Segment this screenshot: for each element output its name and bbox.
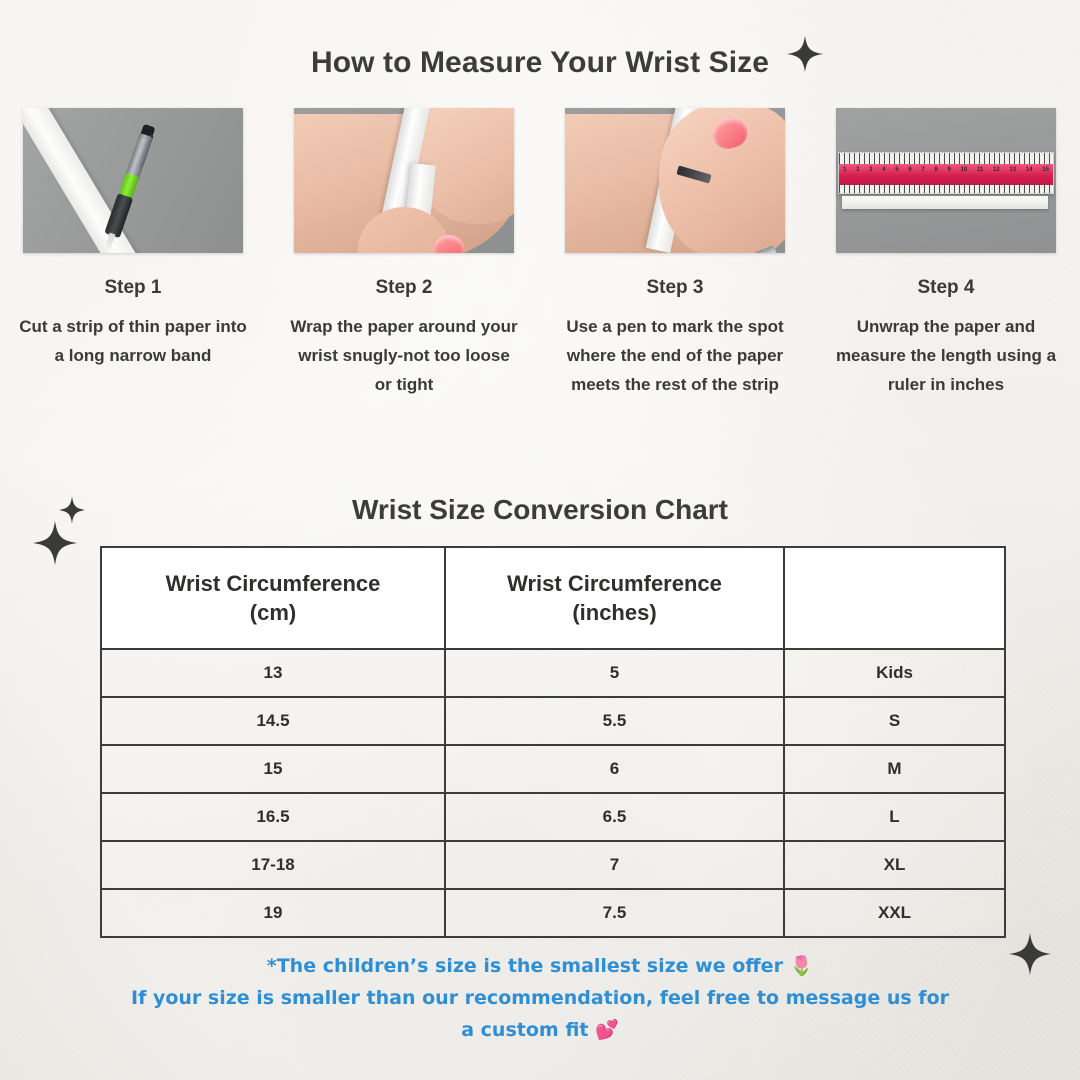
table-row: 17-187XL	[101, 841, 1005, 889]
sparkle-star-icon	[786, 35, 824, 73]
table-row: 16.56.5L	[101, 793, 1005, 841]
footer-note-line-1: *The children’s size is the smallest siz…	[60, 951, 1020, 983]
ruler-ticks-bottom	[839, 183, 1053, 193]
footer-note: *The children’s size is the smallest siz…	[60, 951, 1020, 1047]
ruler-tick-number: 5	[895, 167, 898, 173]
step-description: Wrap the paper around your wrist snugly-…	[278, 313, 530, 400]
sparkle-star-icon	[1008, 932, 1052, 976]
ruler-tick-number: 3	[869, 167, 872, 173]
step-description: Unwrap the paper and measure the length …	[820, 313, 1072, 400]
step-4-photo: 123456789101112131415	[836, 108, 1056, 253]
cell-size: XL	[784, 841, 1005, 889]
conversion-chart-title: Wrist Size Conversion Chart	[0, 494, 1080, 526]
ruler-tick-number: 9	[948, 167, 951, 173]
cell-inches: 6	[445, 745, 784, 793]
step-card-2: Step 2 Wrap the paper around your wrist …	[278, 108, 530, 400]
step-label: Step 3	[549, 277, 801, 299]
cell-cm: 15	[101, 745, 445, 793]
cell-size: L	[784, 793, 1005, 841]
table-row: 197.5XXL	[101, 889, 1005, 937]
step-1-photo	[23, 108, 243, 253]
step-description: Cut a strip of thin paper into a long na…	[7, 313, 259, 371]
column-header-line-1: Wrist Circumference	[507, 571, 722, 596]
ruler-shape: 123456789101112131415	[838, 152, 1054, 194]
table-row: 156M	[101, 745, 1005, 793]
table-header-row: Wrist Circumference (cm) Wrist Circumfer…	[101, 547, 1005, 649]
wrist-size-conversion-table: Wrist Circumference (cm) Wrist Circumfer…	[100, 546, 1006, 938]
cell-size: Kids	[784, 649, 1005, 697]
cell-inches: 5.5	[445, 697, 784, 745]
measured-paper-strip-shape	[842, 196, 1048, 209]
steps-row: Step 1 Cut a strip of thin paper into a …	[0, 108, 1080, 448]
step-card-4: 123456789101112131415 Step 4 Unwrap the …	[820, 108, 1072, 400]
ruler-tick-number: 1	[843, 167, 846, 173]
cell-inches: 6.5	[445, 793, 784, 841]
ruler-tick-number: 6	[908, 167, 911, 173]
step-label: Step 4	[820, 277, 1072, 299]
ruler-tick-number: 8	[934, 167, 937, 173]
step-label: Step 2	[278, 277, 530, 299]
footer-note-line-2: If your size is smaller than our recomme…	[60, 983, 1020, 1015]
column-header-line-1: Wrist Circumference	[166, 571, 381, 596]
cell-size: S	[784, 697, 1005, 745]
column-header-cm: Wrist Circumference (cm)	[101, 547, 445, 649]
ruler-tick-number: 15	[1042, 167, 1049, 173]
ruler-tick-number: 2	[856, 167, 859, 173]
ruler-tick-number: 13	[1009, 167, 1016, 173]
ruler-tick-number: 4	[882, 167, 885, 173]
ruler-tick-number: 12	[993, 167, 1000, 173]
step-label: Step 1	[7, 277, 259, 299]
step-description: Use a pen to mark the spot where the end…	[549, 313, 801, 400]
cell-inches: 7.5	[445, 889, 784, 937]
page-title: How to Measure Your Wrist Size	[0, 46, 1080, 80]
column-header-line-2: (inches)	[572, 600, 656, 625]
step-card-1: Step 1 Cut a strip of thin paper into a …	[7, 108, 259, 371]
cell-size: M	[784, 745, 1005, 793]
cell-inches: 5	[445, 649, 784, 697]
step-3-photo	[565, 108, 785, 253]
cell-inches: 7	[445, 841, 784, 889]
table-body: 135Kids14.55.5S156M16.56.5L17-187XL197.5…	[101, 649, 1005, 937]
ruler-tick-number: 11	[977, 167, 983, 173]
column-header-line-2: (cm)	[250, 600, 296, 625]
step-card-3: Step 3 Use a pen to mark the spot where …	[549, 108, 801, 400]
sparkle-star-icon	[32, 520, 78, 566]
cell-cm: 19	[101, 889, 445, 937]
cell-size: XXL	[784, 889, 1005, 937]
cell-cm: 13	[101, 649, 445, 697]
table-row: 135Kids	[101, 649, 1005, 697]
ruler-tick-number: 10	[961, 167, 968, 173]
cell-cm: 14.5	[101, 697, 445, 745]
column-header-inches: Wrist Circumference (inches)	[445, 547, 784, 649]
column-header-size	[784, 547, 1005, 649]
ruler-tick-numbers: 123456789101112131415	[839, 164, 1053, 175]
step-2-photo	[294, 108, 514, 253]
cell-cm: 17-18	[101, 841, 445, 889]
footer-note-line-3: a custom fit 💕	[60, 1015, 1020, 1047]
cell-cm: 16.5	[101, 793, 445, 841]
wrist-size-guide-page: How to Measure Your Wrist Size Step 1 Cu…	[0, 0, 1080, 1080]
ruler-tick-number: 14	[1026, 167, 1033, 173]
table-row: 14.55.5S	[101, 697, 1005, 745]
ruler-tick-number: 7	[921, 167, 924, 173]
ruler-ticks-top	[839, 153, 1053, 164]
